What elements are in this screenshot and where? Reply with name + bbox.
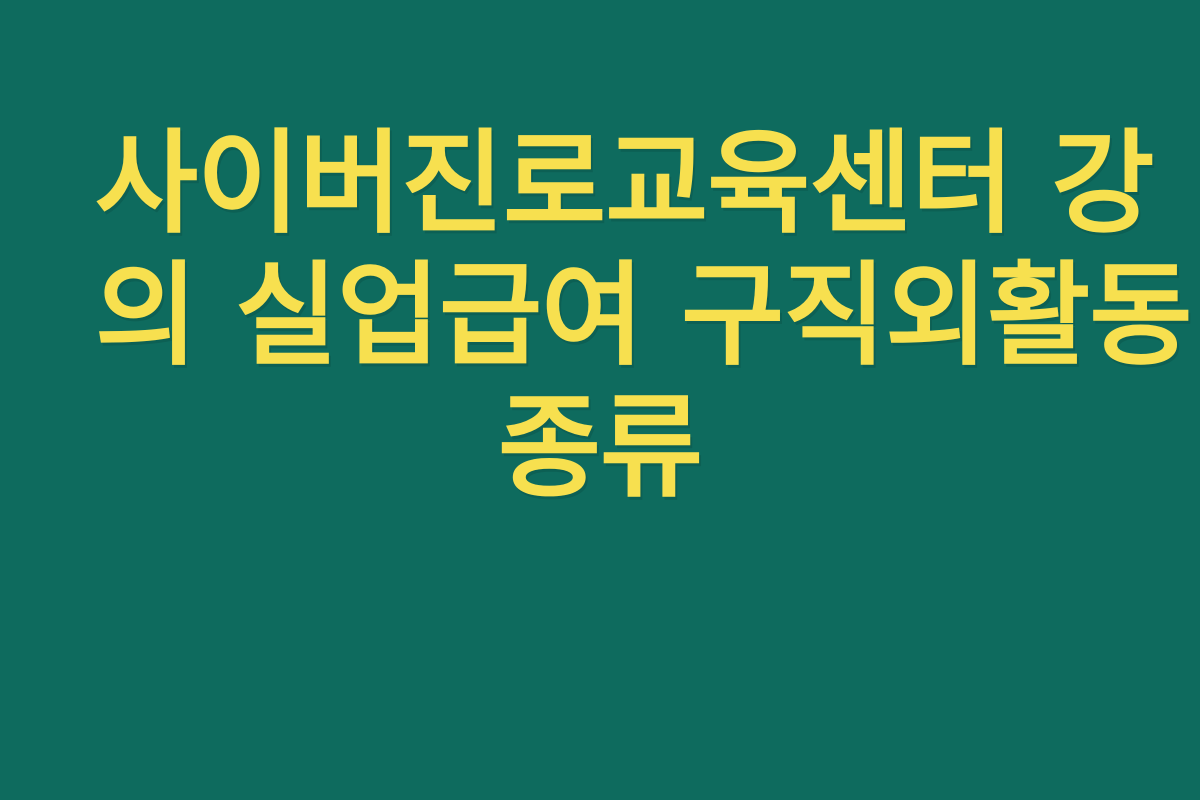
title-card: 사이버진로교육센터 강 의 실업급여 구직외활동 종류 <box>0 0 1200 800</box>
page-title-line-3: 종류 <box>95 382 1105 514</box>
page-title-line-2: 의 실업급여 구직외활동 <box>95 250 1105 382</box>
page-title: 사이버진로교육센터 강 의 실업급여 구직외활동 종류 <box>95 118 1105 514</box>
page-title-line-1: 사이버진로교육센터 강 <box>95 118 1105 250</box>
